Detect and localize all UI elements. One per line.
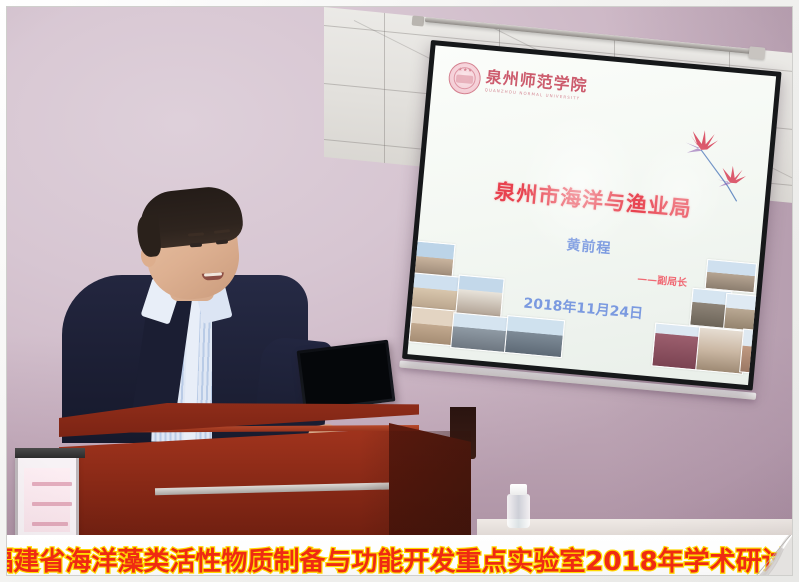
caption-banner: 福建省海洋藻类活性物质制备与功能开发重点实验室2018年学术研讨会: [7, 535, 793, 576]
water-bottle: [507, 484, 530, 526]
collage-tile: [450, 312, 509, 353]
photo-frame-inner: ★★★ 泉州师范学院 QUANZHOU NORMAL UNIVERSITY: [6, 6, 793, 576]
notice-text-line: [32, 522, 68, 526]
notice-text-line: [32, 502, 72, 506]
caption-text: 福建省海洋藻类活性物质制备与功能开发重点实验室2018年学术研讨会: [7, 541, 793, 577]
collage-tile: [504, 315, 565, 358]
laptop-bezel: [300, 343, 392, 409]
laptop-screen: [297, 340, 396, 413]
photo-page: ★★★ 泉州师范学院 QUANZHOU NORMAL UNIVERSITY: [0, 0, 799, 582]
seal-core-icon: [456, 74, 474, 84]
bottle-body: [507, 494, 530, 528]
slide-speaker-role: ——副局长: [637, 270, 688, 289]
slide-surface: ★★★ 泉州师范学院 QUANZHOU NORMAL UNIVERSITY: [407, 45, 776, 385]
speaker-hair-side: [136, 214, 162, 258]
logo-text: 泉州师范学院 QUANZHOU NORMAL UNIVERSITY: [485, 69, 589, 101]
university-seal-icon: ★★★: [447, 61, 482, 96]
screen-border: ★★★ 泉州师范学院 QUANZHOU NORMAL UNIVERSITY: [402, 40, 782, 391]
notice-text-line: [32, 482, 72, 486]
bottle-cap: [510, 484, 527, 495]
conference-photo: ★★★ 泉州师范学院 QUANZHOU NORMAL UNIVERSITY: [7, 7, 793, 535]
page-curl-icon: [732, 535, 793, 576]
university-logo: ★★★ 泉州师范学院 QUANZHOU NORMAL UNIVERSITY: [447, 61, 588, 105]
podium-shadow: [359, 431, 471, 535]
notice-sheet: [24, 468, 70, 532]
notice-top-bar: [15, 448, 85, 458]
screen-mount-end: [412, 15, 425, 26]
collage-tile: [651, 322, 701, 370]
projection-screen: ★★★ 泉州师范学院 QUANZHOU NORMAL UNIVERSITY: [399, 40, 793, 422]
seal-stars-icon: ★★★: [458, 67, 473, 74]
speaker-eye: [190, 243, 202, 248]
screen-mount-bracket: [748, 46, 765, 60]
photo-frame: ★★★ 泉州师范学院 QUANZHOU NORMAL UNIVERSITY: [0, 0, 799, 582]
speaker-figure: [62, 189, 312, 439]
wall-notice-frame: [15, 455, 79, 535]
wooden-podium: [59, 403, 419, 535]
